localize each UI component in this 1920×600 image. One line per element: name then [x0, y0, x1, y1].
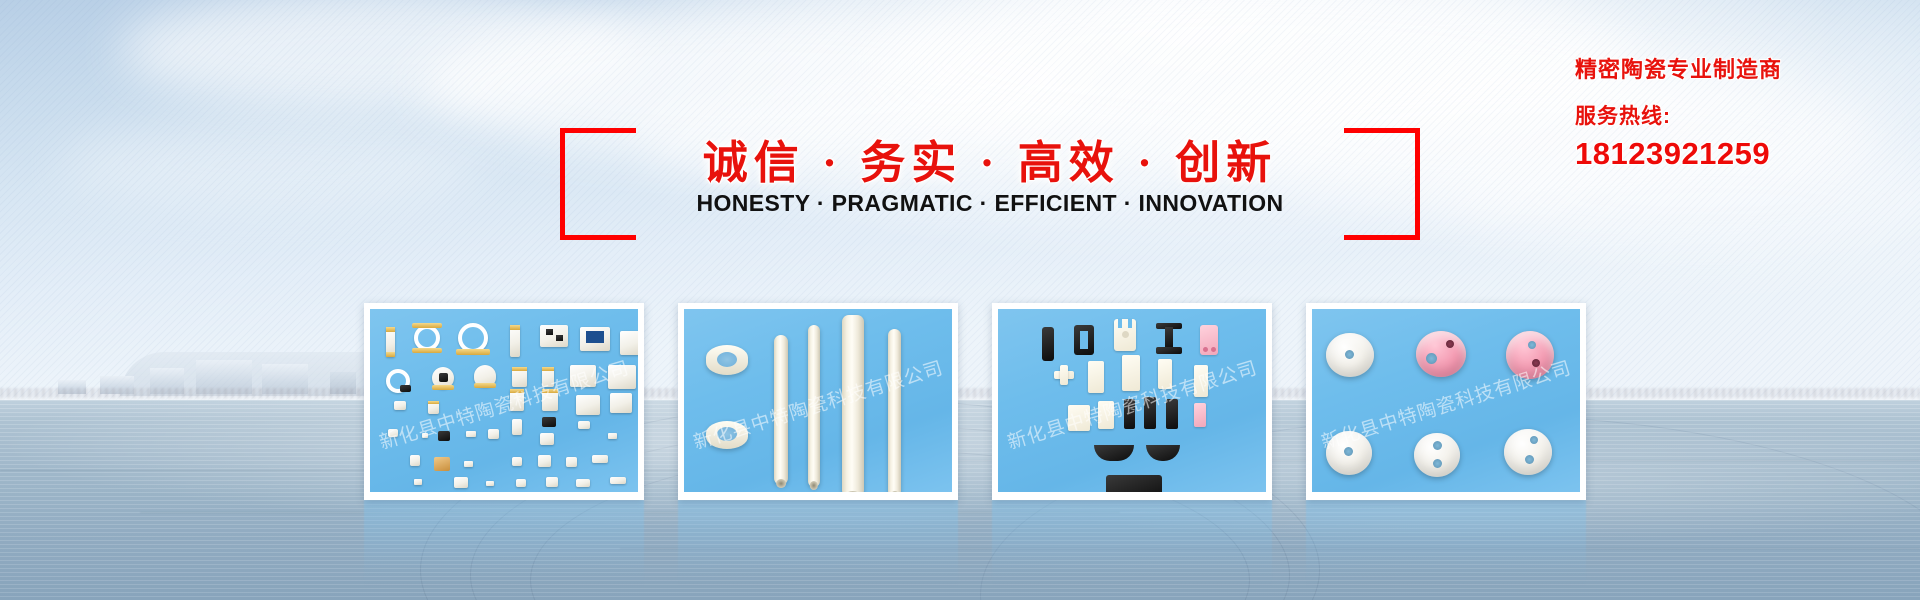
product-panel-smd-components[interactable]: 新化县中特陶瓷科技有限公司: [364, 303, 644, 500]
panel-image-smd-components: 新化县中特陶瓷科技有限公司: [370, 309, 638, 492]
slogan-chinese: 诚信 · 务实 · 高效 · 创新: [560, 126, 1420, 191]
manufacturer-tagline: 精密陶瓷专业制造商: [1575, 52, 1895, 84]
product-panel-ceramic-tubes[interactable]: 新化县中特陶瓷科技有限公司: [678, 303, 958, 500]
panel-image-ceramic-tubes: 新化县中特陶瓷科技有限公司: [684, 309, 952, 492]
hotline-phone-number[interactable]: 18123921259: [1575, 136, 1895, 172]
hotline-label: 服务热线:: [1575, 100, 1895, 130]
panel-image-ceramic-blocks: 新化县中特陶瓷科技有限公司: [998, 309, 1266, 492]
promo-banner: 诚信 · 务实 · 高效 · 创新 HONESTY · PRAGMATIC · …: [0, 0, 1920, 600]
contact-block: 精密陶瓷专业制造商 服务热线: 18123921259: [1575, 52, 1895, 172]
slogan-english: HONESTY · PRAGMATIC · EFFICIENT · INNOVA…: [560, 190, 1420, 217]
product-panel-ceramic-discs[interactable]: 新化县中特陶瓷科技有限公司: [1306, 303, 1586, 500]
slogan-block: 诚信 · 务实 · 高效 · 创新 HONESTY · PRAGMATIC · …: [560, 128, 1420, 240]
product-panel-row: 新化县中特陶瓷科技有限公司 新化县中特陶瓷科技有限公司: [364, 303, 1586, 500]
product-panel-ceramic-blocks[interactable]: 新化县中特陶瓷科技有限公司: [992, 303, 1272, 500]
panel-image-ceramic-discs: 新化县中特陶瓷科技有限公司: [1312, 309, 1580, 492]
